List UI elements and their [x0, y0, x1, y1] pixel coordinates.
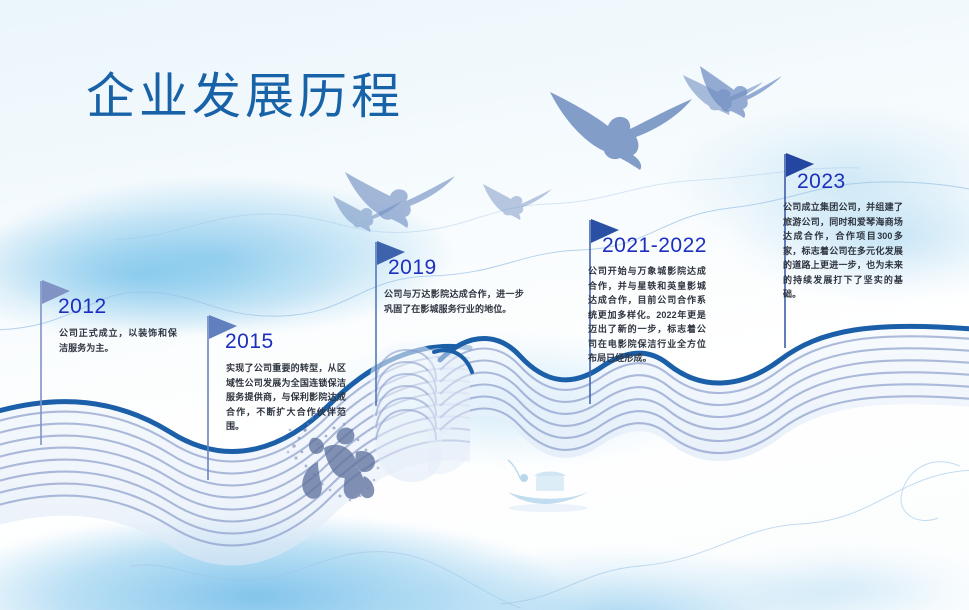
swirl-line-lower-left [130, 552, 520, 608]
milestone-description: 公司与万达影院达成合作，进一步巩固了在影城服务行业的地位。 [384, 287, 524, 316]
swirl-line-upper [115, 168, 860, 240]
ribbon-fold-edge [428, 348, 472, 474]
milestone-year: 2019 [388, 256, 437, 280]
mountain-wash-bottom [0, 460, 969, 610]
milestone-year: 2012 [58, 295, 107, 319]
bird-small-left [333, 196, 402, 232]
milestone-year: 2023 [797, 170, 846, 194]
milestone-year: 2021-2022 [602, 234, 707, 258]
milestone-year: 2015 [225, 330, 274, 354]
bird-far-right [683, 75, 763, 115]
milestone-description: 公司开始与万象城影院达成合作，并与星轶和英皇影城达成合作，目前公司合作系统更加多… [588, 264, 706, 366]
bird-right-top [700, 66, 782, 118]
page-title: 企业发展历程 [86, 57, 404, 128]
milestone-description: 公司正式成立，以装饰和保洁服务为主。 [59, 326, 177, 355]
milestone-description: 公司成立集团公司，并组建了旅游公司，同时和爱琴海商场达成合作，合作项目300多家… [783, 200, 903, 302]
swirl-line-lower-right [500, 470, 969, 604]
bird-large-center [550, 92, 692, 170]
bird-small-center [483, 184, 552, 220]
mountain-wash-bottom-right [629, 500, 969, 610]
swirl-loop-right [901, 462, 960, 521]
milestone-description: 实现了公司重要的转型，从区域性公司发展为全国连锁保洁服务提供商，与保利影院达成合… [226, 361, 346, 434]
bird-medium-left [345, 172, 455, 228]
poster-canvas: 企业发展历程 2012 公司正式成立，以装饰和保洁服务为主。 2015 实现了公… [0, 0, 969, 610]
